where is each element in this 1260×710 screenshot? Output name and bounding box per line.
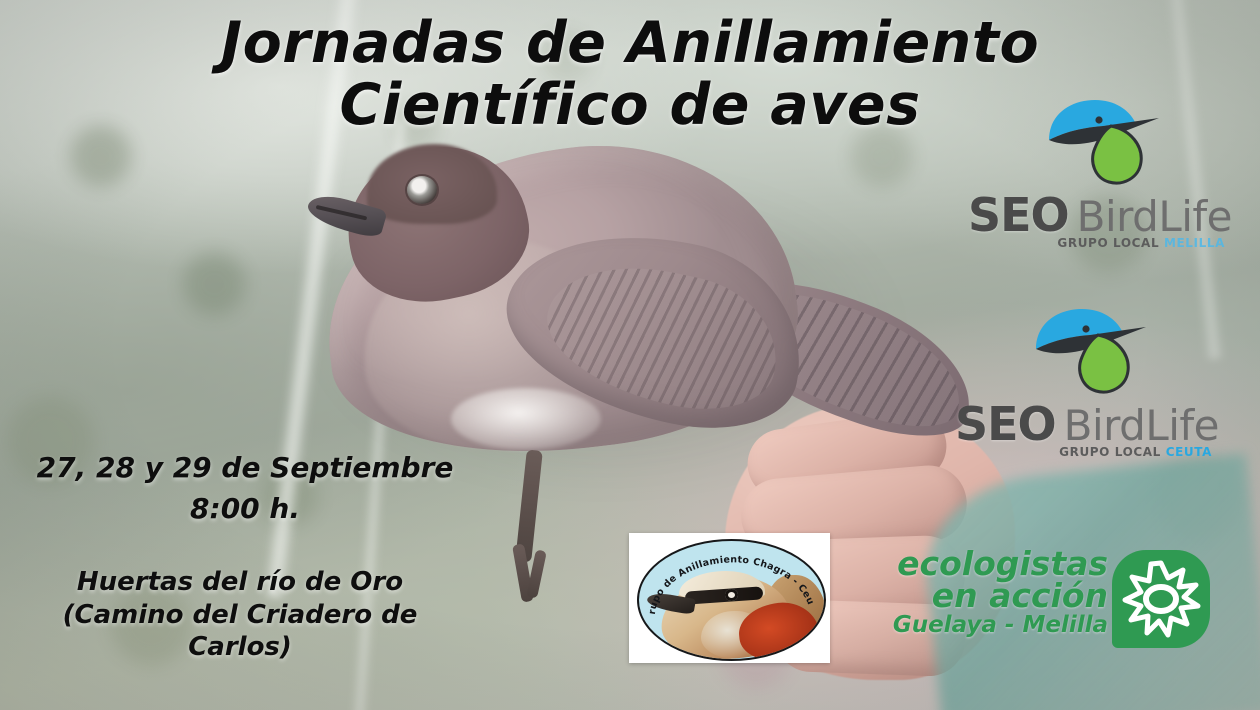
seo-wordmark: SEO BirdLife <box>962 397 1212 451</box>
grupo-local-prefix: GRUPO LOCAL <box>1059 445 1166 459</box>
title-line-1: Jornadas de Anillamiento <box>0 14 1260 72</box>
grupo-local-city: MELILLA <box>1164 236 1225 250</box>
location-line-2: (Camino del Criadero de <box>20 599 460 632</box>
logo-seo-birdlife-ceuta: SEO BirdLife GRUPO LOCAL CEUTA <box>962 305 1212 490</box>
event-time: 8:00 h. <box>10 491 480 526</box>
chagra-oval-frame: Grupo de Anillamiento Chagra - Ceuta <box>637 539 826 661</box>
eea-line-3: Guelaya - Melilla <box>890 614 1108 636</box>
event-location-block: Huertas del río de Oro (Camino del Criad… <box>20 566 460 664</box>
poster-canvas: Jornadas de Anillamiento Científico de a… <box>0 0 1260 710</box>
sun-flower-icon <box>1112 550 1210 648</box>
eea-line-1: ecologistas <box>890 548 1108 580</box>
grupo-local-prefix: GRUPO LOCAL <box>1057 236 1164 250</box>
birdlife-word: BirdLife <box>1077 192 1232 241</box>
grupo-local-city: CEUTA <box>1166 445 1212 459</box>
event-date: 27, 28 y 29 de Septiembre <box>37 451 454 484</box>
eea-wordmark: ecologistas en acción Guelaya - Melilla <box>890 548 1108 636</box>
chagra-arc-label: Grupo de Anillamiento Chagra - Ceuta <box>639 541 816 615</box>
logo-ecologistas-en-accion: ecologistas en acción Guelaya - Melilla <box>890 548 1210 660</box>
svg-text:Grupo de Anillamiento Chagra -: Grupo de Anillamiento Chagra - Ceuta <box>639 541 816 615</box>
seo-bold-word: SEO <box>968 188 1069 242</box>
kingfisher-head-icon <box>1037 96 1165 188</box>
seo-local-group-line: GRUPO LOCAL CEUTA <box>962 445 1220 459</box>
event-date-block: 27, 28 y 29 de Septiembre 8:00 h. <box>10 450 480 526</box>
kingfisher-head-icon <box>1024 305 1152 397</box>
seo-wordmark: SEO BirdLife <box>975 188 1225 242</box>
chagra-arc-text: Grupo de Anillamiento Chagra - Ceuta <box>639 541 824 659</box>
location-line-3: Carlos) <box>20 631 460 664</box>
location-line-1: Huertas del río de Oro <box>20 566 460 599</box>
logo-grupo-anillamiento-chagra: Grupo de Anillamiento Chagra - Ceuta <box>629 533 830 663</box>
seo-local-group-line: GRUPO LOCAL MELILLA <box>975 236 1233 250</box>
birdlife-word: BirdLife <box>1064 401 1219 450</box>
eea-line-2: en acción <box>890 580 1108 612</box>
logo-seo-birdlife-melilla: SEO BirdLife GRUPO LOCAL MELILLA <box>975 96 1225 281</box>
seo-bold-word: SEO <box>955 397 1056 451</box>
